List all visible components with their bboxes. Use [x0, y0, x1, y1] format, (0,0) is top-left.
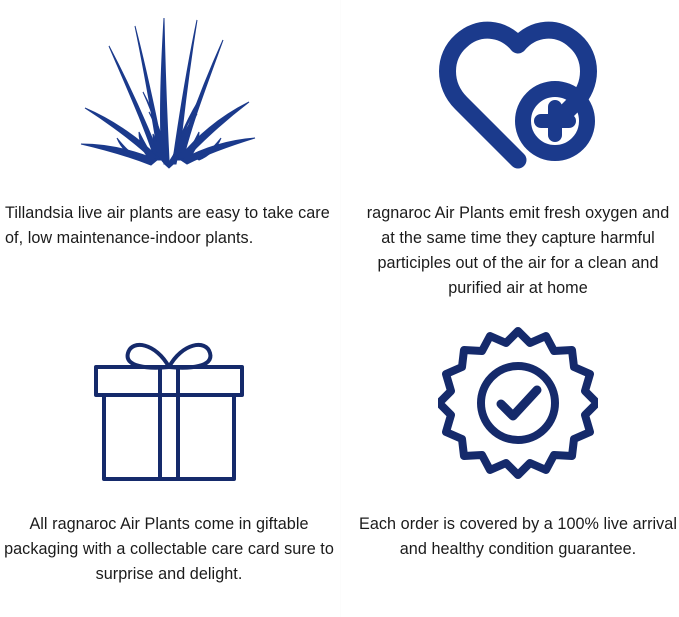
feature-caption: All ragnaroc Air Plants come in giftable… [0, 512, 338, 587]
feature-cell-giftable-packaging: All ragnaroc Air Plants come in giftable… [0, 309, 340, 617]
heart-plus-icon [357, 0, 679, 190]
feature-cell-air-plant-care: Tillandsia live air plants are easy to t… [0, 0, 340, 309]
feature-caption: Each order is covered by a 100% live arr… [357, 512, 679, 562]
feature-cell-live-arrival-guarantee: Each order is covered by a 100% live arr… [340, 309, 679, 617]
air-plant-icon [0, 0, 338, 190]
guarantee-badge-icon [357, 309, 679, 497]
gift-box-icon [0, 309, 338, 497]
feature-grid: Tillandsia live air plants are easy to t… [0, 0, 679, 617]
feature-caption: ragnaroc Air Plants emit fresh oxygen an… [357, 201, 679, 301]
feature-caption: Tillandsia live air plants are easy to t… [0, 201, 338, 251]
feature-cell-fresh-oxygen: ragnaroc Air Plants emit fresh oxygen an… [340, 0, 679, 309]
